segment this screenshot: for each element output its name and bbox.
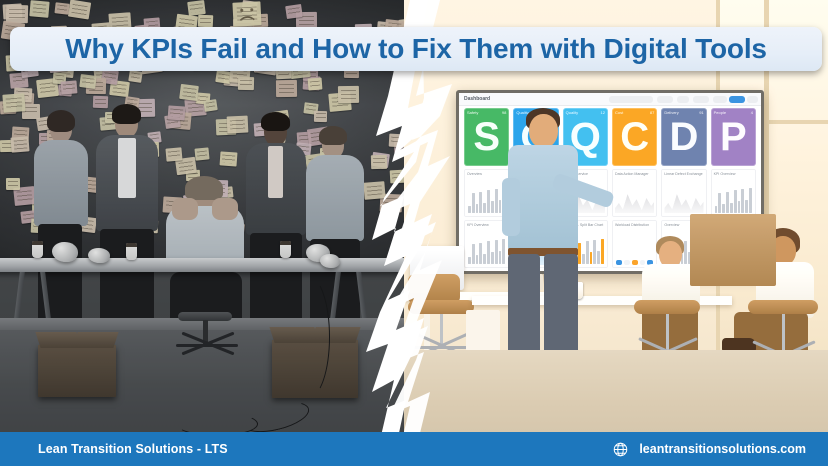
dashboard-save-button[interactable] [713,96,727,103]
kpi-tile-safety[interactable]: Safety98S [464,108,509,166]
dashboard-card-title: KPI Overview [714,172,736,176]
sticky-note [227,115,249,133]
sticky-note-sad-face [232,1,261,26]
kpi-tile-label: Delivery [664,110,678,115]
sticky-note [364,181,386,200]
sticky-note [371,155,388,169]
kpi-tile-letter: C [620,120,649,154]
sticky-note [275,80,296,97]
dashboard-card-title: Overview [467,172,482,176]
kpi-tile-letter: P [720,120,747,154]
kpi-tile-letter: S [473,120,500,154]
coffee-cup [280,241,291,258]
footer-website[interactable]: leantransitionsolutions.com [613,442,806,457]
dashboard-card-title: KPI Overview [467,223,489,227]
cardboard-box [38,345,116,397]
sticky-note [6,178,20,190]
dashboard-card-title: Linear Defect Exchange [664,172,702,176]
dashboard-share-button[interactable] [677,96,689,103]
footer-bar: Lean Transition Solutions - LTS leantran… [0,432,828,466]
dashboard-settings-button[interactable] [747,96,758,103]
dashboard-card-title: Workload Distribution [615,223,649,227]
kpi-tile-label: Cost [615,110,623,115]
kpi-tile-label: Safety [467,110,478,115]
sticky-note [219,152,237,167]
page-title: Why KPIs Fail and How to Fix Them with D… [65,33,767,65]
dashboard-card[interactable]: Linear Defect Exchange [661,169,706,217]
crumpled-paper [52,242,78,262]
sticky-note [195,147,210,160]
dashboard-card[interactable]: Workload Distribution [612,220,657,268]
wall-panel [690,214,776,286]
sticky-note [3,93,26,112]
kpi-tile-letter: D [670,120,699,154]
sticky-note [129,70,143,83]
footer-url-text: leantransitionsolutions.com [639,442,806,456]
tangled-cable [288,276,330,398]
dashboard-card-title: Overview [664,223,679,227]
sticky-note [187,0,206,16]
dashboard-card-title: Data Action Manager [615,172,649,176]
globe-icon [613,442,628,457]
line-chart [615,188,654,213]
bar-chart [468,179,505,213]
sticky-note [168,105,186,121]
sticky-note [285,4,303,19]
sticky-note [30,0,50,17]
dashboard-card[interactable]: Data Action Manager [612,169,657,217]
sticky-note [338,86,359,103]
dashboard-publish-button[interactable] [729,96,745,103]
kpi-tile-people[interactable]: People4P [711,108,756,166]
sticky-note [80,74,98,89]
dashboard-search-box[interactable] [609,96,653,103]
crumpled-paper [320,254,340,268]
dashboard-export-button[interactable] [693,96,709,103]
kpi-tile-value: 87 [650,110,654,115]
sticky-note [165,147,182,162]
sticky-note [60,80,77,95]
bar-chart [468,230,505,264]
sticky-note [54,2,69,15]
kpi-tile-label: Quality [566,110,578,115]
kpi-tile-value: 91 [699,110,703,115]
dashboard-card[interactable]: KPI Overview [711,169,756,217]
sticky-note [92,95,107,108]
crumpled-paper [88,248,110,263]
line-chart [664,188,703,213]
sticky-note [198,15,214,28]
kpi-tile-cost[interactable]: Cost87C [612,108,657,166]
footer-brand: Lean Transition Solutions - LTS [38,442,228,456]
bar-chart [715,179,752,213]
title-banner: Why KPIs Fail and How to Fix Them with D… [10,27,822,71]
marketing-banner-image: Dashboard Safety98SQuality95QQuality12QC… [0,0,828,466]
sticky-note [203,99,218,112]
dashboard-title: Dashboard [464,96,490,102]
sticky-note [11,136,31,152]
dashboard-filter-button[interactable] [657,96,673,103]
coffee-cup [32,241,43,258]
coffee-cup [126,243,137,260]
sticky-note [308,78,323,91]
sticky-note [179,84,199,101]
dashboard-column: Data Action ManagerWorkload Distribution [612,169,657,268]
kpi-tile-label: People [714,110,726,115]
dashboard-toolbar[interactable]: Dashboard [459,93,761,106]
kpi-tile-value: 4 [751,110,753,115]
sticky-note [67,0,90,19]
kpi-tile-value: 12 [601,110,605,115]
kpi-tile-value: 98 [502,110,506,115]
sticky-note [238,76,254,90]
sticky-note [314,111,328,122]
kpi-tile-delivery[interactable]: Delivery91D [661,108,706,166]
sticky-note [389,134,405,148]
